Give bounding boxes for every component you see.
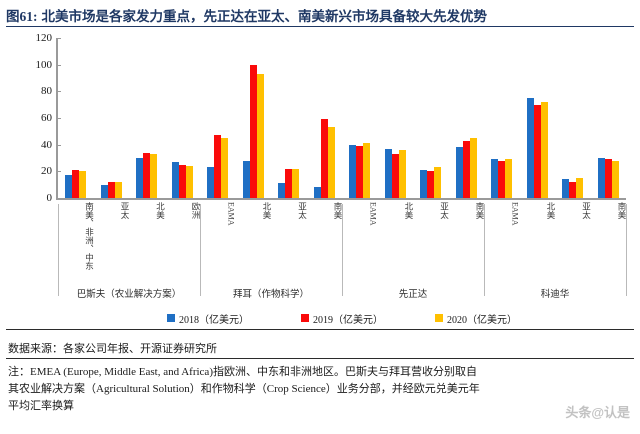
bar bbox=[562, 179, 569, 198]
bar bbox=[463, 141, 470, 198]
bar bbox=[612, 161, 619, 198]
bar-cluster bbox=[271, 38, 307, 198]
category-label: 南美 bbox=[307, 202, 343, 219]
bar bbox=[285, 169, 292, 198]
bar-group bbox=[58, 38, 200, 198]
group-separator bbox=[626, 204, 627, 296]
bar bbox=[385, 149, 392, 198]
bar bbox=[172, 162, 179, 198]
bar bbox=[498, 161, 505, 198]
bar bbox=[328, 127, 335, 198]
bar-cluster bbox=[449, 38, 485, 198]
bar-group bbox=[200, 38, 342, 198]
bar bbox=[278, 183, 285, 198]
bar bbox=[214, 135, 221, 198]
note-line-1: 注：EMEA (Europe, Middle East, and Africa)… bbox=[8, 364, 632, 381]
bar-cluster bbox=[129, 38, 165, 198]
bar bbox=[292, 169, 299, 198]
y-tick-label: 80 bbox=[18, 85, 52, 97]
bar-cluster bbox=[591, 38, 627, 198]
bar bbox=[363, 143, 370, 198]
bar bbox=[243, 161, 250, 198]
category-label: 北美 bbox=[378, 202, 414, 219]
note-line-3: 平均汇率换算 bbox=[8, 398, 632, 415]
bar bbox=[221, 138, 228, 198]
category-label: 亚太 bbox=[555, 202, 591, 219]
bar bbox=[505, 159, 512, 198]
bar bbox=[250, 65, 257, 198]
figure-number: 图61: bbox=[6, 5, 38, 25]
chart-legend: 2018（亿美元）2019（亿美元）2020（亿美元） bbox=[58, 310, 626, 326]
bar bbox=[207, 167, 214, 198]
bar bbox=[527, 98, 534, 198]
legend-label: 2020（亿美元） bbox=[447, 311, 517, 326]
category-label: 南美 bbox=[591, 202, 627, 219]
bar bbox=[72, 170, 79, 198]
category-label: 北美 bbox=[129, 202, 165, 219]
bar bbox=[491, 159, 498, 198]
bar bbox=[605, 159, 612, 198]
divider-top bbox=[6, 329, 634, 330]
bar bbox=[420, 170, 427, 198]
group-name: 拜耳（作物科学） bbox=[200, 286, 342, 300]
watermark: 头条@认是 bbox=[565, 402, 630, 421]
x-axis-line bbox=[56, 198, 626, 200]
y-tick-label: 0 bbox=[18, 192, 52, 204]
bar-cluster bbox=[413, 38, 449, 198]
legend-swatch-icon bbox=[167, 314, 175, 322]
bar-cluster bbox=[58, 38, 94, 198]
bar-cluster bbox=[94, 38, 130, 198]
bar-cluster bbox=[484, 38, 520, 198]
bar-cluster bbox=[307, 38, 343, 198]
category-label: EAMA bbox=[484, 202, 520, 226]
group-separator bbox=[58, 204, 59, 296]
chart-container: 020406080100120 南美、非洲、中东亚太北美欧洲EAMA北美亚太南美… bbox=[6, 28, 634, 328]
figure-note: 注：EMEA (Europe, Middle East, and Africa)… bbox=[8, 364, 632, 415]
group-name: 科迪华 bbox=[484, 286, 626, 300]
bar bbox=[115, 182, 122, 198]
bar bbox=[186, 166, 193, 198]
bar bbox=[65, 175, 72, 198]
group-separator bbox=[200, 204, 201, 296]
bar bbox=[143, 153, 150, 198]
bar-cluster bbox=[378, 38, 414, 198]
bar bbox=[257, 74, 264, 198]
figure-title-bar: 图61: 北美市场是各家发力重点，先正达在亚太、南美新兴市场具备较大先发优势 bbox=[6, 4, 634, 27]
group-separator bbox=[342, 204, 343, 296]
bar bbox=[541, 102, 548, 198]
bar bbox=[136, 158, 143, 198]
bar bbox=[108, 182, 115, 198]
note-line-2: 其农业解决方案（Agricultural Solution）和作物科学（Crop… bbox=[8, 381, 632, 398]
category-label: 北美 bbox=[236, 202, 272, 219]
bar bbox=[569, 182, 576, 198]
data-source: 数据来源：各家公司年报、开源证券研究所 bbox=[8, 340, 217, 356]
y-tick-label: 20 bbox=[18, 165, 52, 177]
legend-label: 2018（亿美元） bbox=[179, 311, 249, 326]
y-axis-labels: 020406080100120 bbox=[14, 28, 52, 208]
bar bbox=[576, 178, 583, 198]
bar-group bbox=[484, 38, 626, 198]
bar bbox=[101, 185, 108, 198]
bar bbox=[456, 147, 463, 198]
bar bbox=[434, 167, 441, 198]
category-label: 欧洲 bbox=[165, 202, 201, 219]
bar-cluster bbox=[342, 38, 378, 198]
legend-item[interactable]: 2019（亿美元） bbox=[301, 311, 383, 326]
legend-label: 2019（亿美元） bbox=[313, 311, 383, 326]
category-label: EAMA bbox=[342, 202, 378, 226]
legend-swatch-icon bbox=[301, 314, 309, 322]
legend-item[interactable]: 2020（亿美元） bbox=[435, 311, 517, 326]
category-label: 南美、非洲、中东 bbox=[58, 202, 94, 270]
bar bbox=[534, 105, 541, 198]
bar bbox=[392, 154, 399, 198]
y-tick-label: 100 bbox=[18, 59, 52, 71]
bar bbox=[179, 165, 186, 198]
y-tick-label: 40 bbox=[18, 139, 52, 151]
bar bbox=[321, 119, 328, 198]
bar-group bbox=[342, 38, 484, 198]
bar bbox=[349, 145, 356, 198]
category-label: EAMA bbox=[200, 202, 236, 226]
bar bbox=[427, 171, 434, 198]
bar bbox=[79, 171, 86, 198]
group-name: 先正达 bbox=[342, 286, 484, 300]
y-tick-label: 60 bbox=[18, 112, 52, 124]
category-label: 北美 bbox=[520, 202, 556, 219]
plot-area: 020406080100120 南美、非洲、中东亚太北美欧洲EAMA北美亚太南美… bbox=[6, 28, 634, 328]
figure-page: 图61: 北美市场是各家发力重点，先正达在亚太、南美新兴市场具备较大先发优势 0… bbox=[0, 0, 640, 434]
bar-cluster bbox=[520, 38, 556, 198]
legend-swatch-icon bbox=[435, 314, 443, 322]
group-name: 巴斯夫（农业解决方案） bbox=[58, 286, 200, 300]
legend-item[interactable]: 2018（亿美元） bbox=[167, 311, 249, 326]
bar-cluster bbox=[165, 38, 201, 198]
category-label: 亚太 bbox=[413, 202, 449, 219]
category-label: 南美 bbox=[449, 202, 485, 219]
bar bbox=[470, 138, 477, 198]
bar bbox=[598, 158, 605, 198]
bar bbox=[150, 154, 157, 198]
group-separator bbox=[484, 204, 485, 296]
y-tick-label: 120 bbox=[18, 32, 52, 44]
bar bbox=[399, 150, 406, 198]
bar bbox=[356, 146, 363, 198]
bars-area bbox=[58, 38, 626, 198]
category-label: 亚太 bbox=[94, 202, 130, 219]
bar-cluster bbox=[555, 38, 591, 198]
bar bbox=[314, 187, 321, 198]
bar-cluster bbox=[200, 38, 236, 198]
bar-cluster bbox=[236, 38, 272, 198]
divider-bottom bbox=[6, 358, 634, 359]
page-title: 北美市场是各家发力重点，先正达在亚太、南美新兴市场具备较大先发优势 bbox=[42, 5, 488, 25]
category-label: 亚太 bbox=[271, 202, 307, 219]
